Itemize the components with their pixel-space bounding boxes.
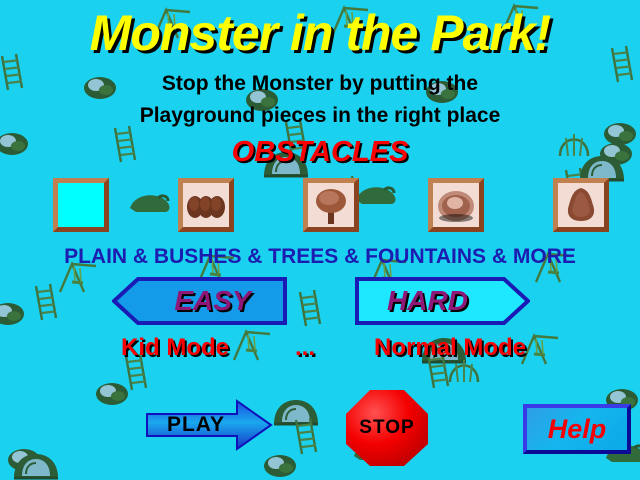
play-button-label: PLAY — [145, 398, 273, 452]
mode-separator: ... — [275, 334, 335, 362]
obstacle-tile-plain[interactable] — [53, 178, 109, 232]
mode-label-row: Kid Mode ... Normal Mode — [0, 334, 640, 362]
hard-button-label: HARD — [355, 277, 530, 325]
play-button[interactable]: PLAY — [145, 398, 273, 452]
obstacle-tile-bushes[interactable] — [178, 178, 234, 232]
kid-mode-label: Kid Mode — [75, 334, 275, 362]
hard-button[interactable]: HARD — [355, 277, 530, 325]
difficulty-row: EASY HARD — [0, 277, 640, 327]
obstacle-tile-fountain[interactable] — [428, 178, 484, 232]
obstacle-tile-row — [0, 178, 640, 238]
obstacle-tile-rock[interactable] — [553, 178, 609, 232]
obstacles-heading: OBSTACLES — [0, 136, 640, 169]
obstacle-tile-tree[interactable] — [303, 178, 359, 232]
subtitle-line-2: Playground pieces in the right place — [0, 104, 640, 128]
stop-button[interactable]: STOP — [344, 388, 430, 468]
help-button-label: Help — [548, 414, 607, 445]
game-stage: Monster in the Park! Stop the Monster by… — [0, 0, 640, 480]
stop-button-label: STOP — [344, 388, 430, 468]
normal-mode-label: Normal Mode — [335, 334, 565, 362]
page-title: Monster in the Park! — [0, 4, 640, 62]
easy-button[interactable]: EASY — [112, 277, 287, 325]
obstacles-caption: PLAIN & BUSHES & TREES & FOUNTAINS & MOR… — [0, 245, 640, 269]
easy-button-label: EASY — [112, 277, 287, 325]
subtitle-line-1: Stop the Monster by putting the — [0, 72, 640, 96]
help-button[interactable]: Help — [523, 404, 631, 454]
